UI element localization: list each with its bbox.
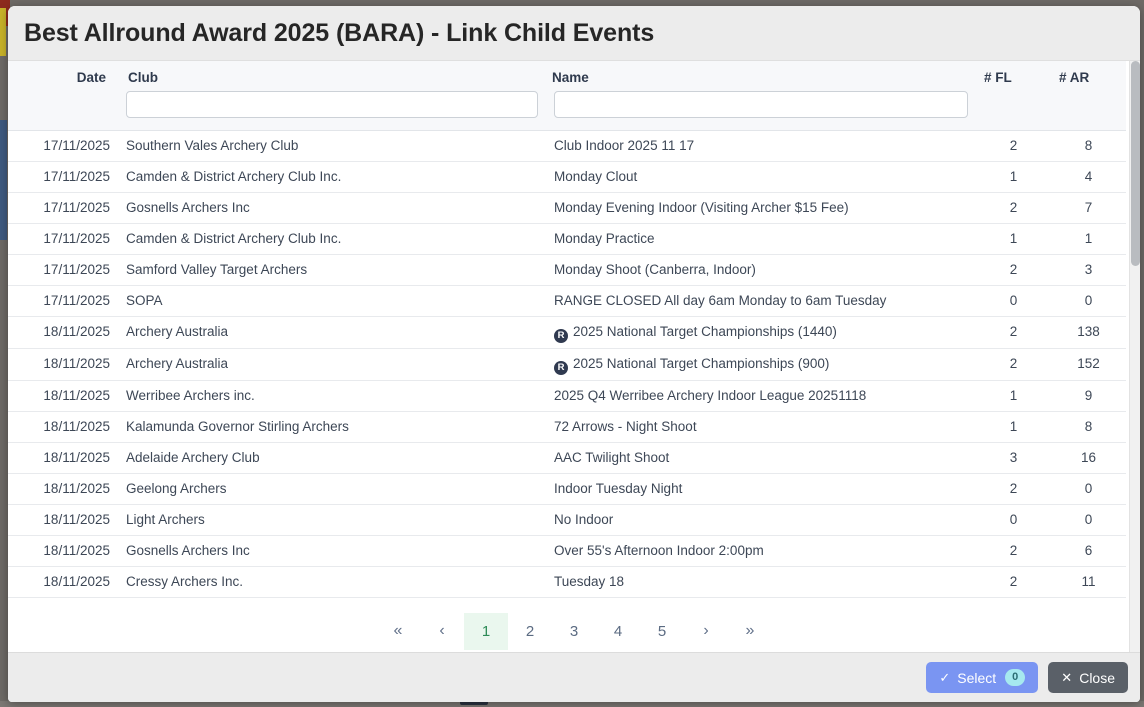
cell-name: Monday Practice [546, 224, 976, 255]
pagination-page-5[interactable]: 5 [640, 613, 684, 650]
table-row[interactable]: 18/11/2025Light ArchersNo Indoor00 [8, 504, 1126, 535]
cell-fl: 2 [976, 348, 1051, 380]
close-button-label: Close [1079, 670, 1115, 686]
pagination-page-3[interactable]: 3 [552, 613, 596, 650]
filter-cell-ar [1051, 91, 1126, 131]
table-row[interactable]: 17/11/2025Camden & District Archery Club… [8, 224, 1126, 255]
cell-name-label: RANGE CLOSED All day 6am Monday to 6am T… [554, 293, 886, 308]
column-header-ar[interactable]: # AR [1051, 61, 1126, 91]
cell-club: Cressy Archers Inc. [118, 566, 546, 597]
cell-name: Tuesday 18 [546, 566, 976, 597]
link-child-events-modal: Best Allround Award 2025 (BARA) - Link C… [8, 6, 1140, 702]
club-filter-input[interactable] [126, 91, 538, 118]
cell-fl: 2 [976, 535, 1051, 566]
table-row[interactable]: 17/11/2025Camden & District Archery Club… [8, 162, 1126, 193]
cell-club: Kalamunda Governor Stirling Archers [118, 411, 546, 442]
cell-fl: 1 [976, 224, 1051, 255]
vertical-scrollbar-thumb[interactable] [1131, 61, 1140, 266]
close-button[interactable]: ✕ Close [1048, 662, 1128, 693]
cell-date: 18/11/2025 [8, 473, 118, 504]
filter-cell-club [118, 91, 546, 131]
cell-name: Over 55's Afternoon Indoor 2:00pm [546, 535, 976, 566]
cell-name: Monday Clout [546, 162, 976, 193]
cell-fl: 2 [976, 131, 1051, 162]
cell-name: No Indoor [546, 504, 976, 535]
pagination-next-button[interactable]: › [684, 613, 728, 650]
cell-name-label: Club Indoor 2025 11 17 [554, 138, 694, 153]
cell-club: Gosnells Archers Inc [118, 193, 546, 224]
record-status-icon: R [554, 329, 568, 343]
cell-name: R2025 National Target Championships (900… [546, 348, 976, 380]
cell-club: Southern Vales Archery Club [118, 131, 546, 162]
cell-date: 18/11/2025 [8, 535, 118, 566]
column-header-name[interactable]: Name [546, 61, 976, 91]
cell-date: 17/11/2025 [8, 255, 118, 286]
cell-name: R2025 National Target Championships (144… [546, 317, 976, 349]
cell-name-label: Tuesday 18 [554, 574, 624, 589]
child-events-table: Date Club Name # FL # AR [8, 61, 1126, 598]
table-row[interactable]: 17/11/2025Samford Valley Target ArchersM… [8, 255, 1126, 286]
pagination-page-2[interactable]: 2 [508, 613, 552, 650]
page-title: Best Allround Award 2025 (BARA) - Link C… [24, 19, 654, 48]
cell-ar: 7 [1051, 193, 1126, 224]
close-icon: ✕ [1061, 671, 1072, 684]
table-row[interactable]: 18/11/2025Werribee Archers inc.2025 Q4 W… [8, 380, 1126, 411]
name-filter-input[interactable] [554, 91, 968, 118]
cell-name-label: Monday Shoot (Canberra, Indoor) [554, 262, 756, 277]
column-header-club[interactable]: Club [118, 61, 546, 91]
cell-name: Indoor Tuesday Night [546, 473, 976, 504]
cell-ar: 11 [1051, 566, 1126, 597]
cell-ar: 8 [1051, 131, 1126, 162]
cell-name: Club Indoor 2025 11 17 [546, 131, 976, 162]
cell-date: 17/11/2025 [8, 162, 118, 193]
table-row[interactable]: 18/11/2025Gosnells Archers IncOver 55's … [8, 535, 1126, 566]
cell-fl: 2 [976, 317, 1051, 349]
record-status-icon: R [554, 361, 568, 375]
table-header-row: Date Club Name # FL # AR [8, 61, 1126, 91]
cell-ar: 9 [1051, 380, 1126, 411]
pagination-page-1[interactable]: 1 [464, 613, 508, 650]
cell-ar: 138 [1051, 317, 1126, 349]
cell-ar: 3 [1051, 255, 1126, 286]
cell-name-label: 2025 National Target Championships (900) [573, 356, 829, 371]
table-row[interactable]: 18/11/2025Kalamunda Governor Stirling Ar… [8, 411, 1126, 442]
cell-name: Monday Shoot (Canberra, Indoor) [546, 255, 976, 286]
filter-cell-date [8, 91, 118, 131]
pagination-last-button[interactable]: » [728, 613, 772, 650]
cell-name-label: Monday Clout [554, 169, 637, 184]
check-icon: ✓ [939, 671, 950, 684]
cell-date: 18/11/2025 [8, 442, 118, 473]
cell-ar: 16 [1051, 442, 1126, 473]
modal-body: Date Club Name # FL # AR [8, 61, 1140, 652]
cell-fl: 1 [976, 411, 1051, 442]
cell-club: Gosnells Archers Inc [118, 535, 546, 566]
pagination: « ‹ 12345 › » [8, 613, 1140, 650]
pagination-prev-button[interactable]: ‹ [420, 613, 464, 650]
cell-fl: 3 [976, 442, 1051, 473]
cell-club: Samford Valley Target Archers [118, 255, 546, 286]
cell-club: Archery Australia [118, 317, 546, 349]
pagination-page-list: 12345 [464, 613, 684, 650]
cell-name-label: 2025 National Target Championships (1440… [573, 324, 837, 339]
cell-ar: 8 [1051, 411, 1126, 442]
pagination-first-button[interactable]: « [376, 613, 420, 650]
filter-cell-name [546, 91, 976, 131]
cell-date: 17/11/2025 [8, 193, 118, 224]
background-sliver-yellow [0, 8, 6, 56]
cell-name: 2025 Q4 Werribee Archery Indoor League 2… [546, 380, 976, 411]
modal-header: Best Allround Award 2025 (BARA) - Link C… [8, 6, 1140, 61]
table-body: 17/11/2025Southern Vales Archery ClubClu… [8, 131, 1126, 598]
cell-date: 18/11/2025 [8, 566, 118, 597]
cell-date: 17/11/2025 [8, 286, 118, 317]
cell-club: Adelaide Archery Club [118, 442, 546, 473]
cell-date: 18/11/2025 [8, 411, 118, 442]
pagination-page-4[interactable]: 4 [596, 613, 640, 650]
cell-name-label: Monday Practice [554, 231, 655, 246]
cell-name-label: No Indoor [554, 512, 613, 527]
cell-date: 18/11/2025 [8, 380, 118, 411]
table-row[interactable]: 18/11/2025Archery AustraliaR2025 Nationa… [8, 317, 1126, 349]
cell-name-label: Over 55's Afternoon Indoor 2:00pm [554, 543, 764, 558]
cell-fl: 0 [976, 504, 1051, 535]
filter-cell-fl [976, 91, 1051, 131]
cell-club: Werribee Archers inc. [118, 380, 546, 411]
table-head: Date Club Name # FL # AR [8, 61, 1126, 131]
cell-club: Geelong Archers [118, 473, 546, 504]
table-row[interactable]: 17/11/2025SOPARANGE CLOSED All day 6am M… [8, 286, 1126, 317]
cell-ar: 0 [1051, 473, 1126, 504]
cell-fl: 2 [976, 193, 1051, 224]
table-row[interactable]: 17/11/2025Southern Vales Archery ClubClu… [8, 131, 1126, 162]
column-header-fl[interactable]: # FL [976, 61, 1051, 91]
cell-ar: 0 [1051, 286, 1126, 317]
table-row[interactable]: 17/11/2025Gosnells Archers IncMonday Eve… [8, 193, 1126, 224]
table-row[interactable]: 18/11/2025Cressy Archers Inc.Tuesday 182… [8, 566, 1126, 597]
table-row[interactable]: 18/11/2025Archery AustraliaR2025 Nationa… [8, 348, 1126, 380]
selected-count-badge: 0 [1005, 669, 1025, 685]
cell-fl: 2 [976, 473, 1051, 504]
select-button[interactable]: ✓ Select 0 [926, 662, 1038, 693]
cell-club: SOPA [118, 286, 546, 317]
cell-ar: 152 [1051, 348, 1126, 380]
cell-date: 18/11/2025 [8, 504, 118, 535]
background-sliver-blue [0, 120, 7, 240]
vertical-scrollbar[interactable] [1129, 61, 1140, 652]
select-button-label: Select [957, 670, 996, 686]
cell-name: 72 Arrows - Night Shoot [546, 411, 976, 442]
cell-fl: 2 [976, 255, 1051, 286]
cell-name-label: 72 Arrows - Night Shoot [554, 419, 697, 434]
cell-fl: 2 [976, 566, 1051, 597]
cell-name-label: AAC Twilight Shoot [554, 450, 669, 465]
cell-ar: 0 [1051, 504, 1126, 535]
cell-date: 17/11/2025 [8, 131, 118, 162]
table-filter-row [8, 91, 1126, 131]
cell-name-label: 2025 Q4 Werribee Archery Indoor League 2… [554, 388, 866, 403]
cell-fl: 0 [976, 286, 1051, 317]
cell-name: Monday Evening Indoor (Visiting Archer $… [546, 193, 976, 224]
cell-name-label: Indoor Tuesday Night [554, 481, 682, 496]
cell-ar: 6 [1051, 535, 1126, 566]
cell-date: 18/11/2025 [8, 348, 118, 380]
column-header-date[interactable]: Date [8, 61, 118, 91]
cell-club: Archery Australia [118, 348, 546, 380]
table-row[interactable]: 18/11/2025Adelaide Archery ClubAAC Twili… [8, 442, 1126, 473]
cell-name: RANGE CLOSED All day 6am Monday to 6am T… [546, 286, 976, 317]
cell-club: Camden & District Archery Club Inc. [118, 224, 546, 255]
cell-ar: 4 [1051, 162, 1126, 193]
modal-footer: ✓ Select 0 ✕ Close [8, 652, 1140, 702]
table-scroll-region: Date Club Name # FL # AR [8, 61, 1140, 650]
cell-club: Light Archers [118, 504, 546, 535]
cell-date: 18/11/2025 [8, 317, 118, 349]
cell-name: AAC Twilight Shoot [546, 442, 976, 473]
cell-name-label: Monday Evening Indoor (Visiting Archer $… [554, 200, 849, 215]
table-row[interactable]: 18/11/2025Geelong ArchersIndoor Tuesday … [8, 473, 1126, 504]
cell-ar: 1 [1051, 224, 1126, 255]
cell-club: Camden & District Archery Club Inc. [118, 162, 546, 193]
cell-fl: 1 [976, 162, 1051, 193]
cell-date: 17/11/2025 [8, 224, 118, 255]
cell-fl: 1 [976, 380, 1051, 411]
